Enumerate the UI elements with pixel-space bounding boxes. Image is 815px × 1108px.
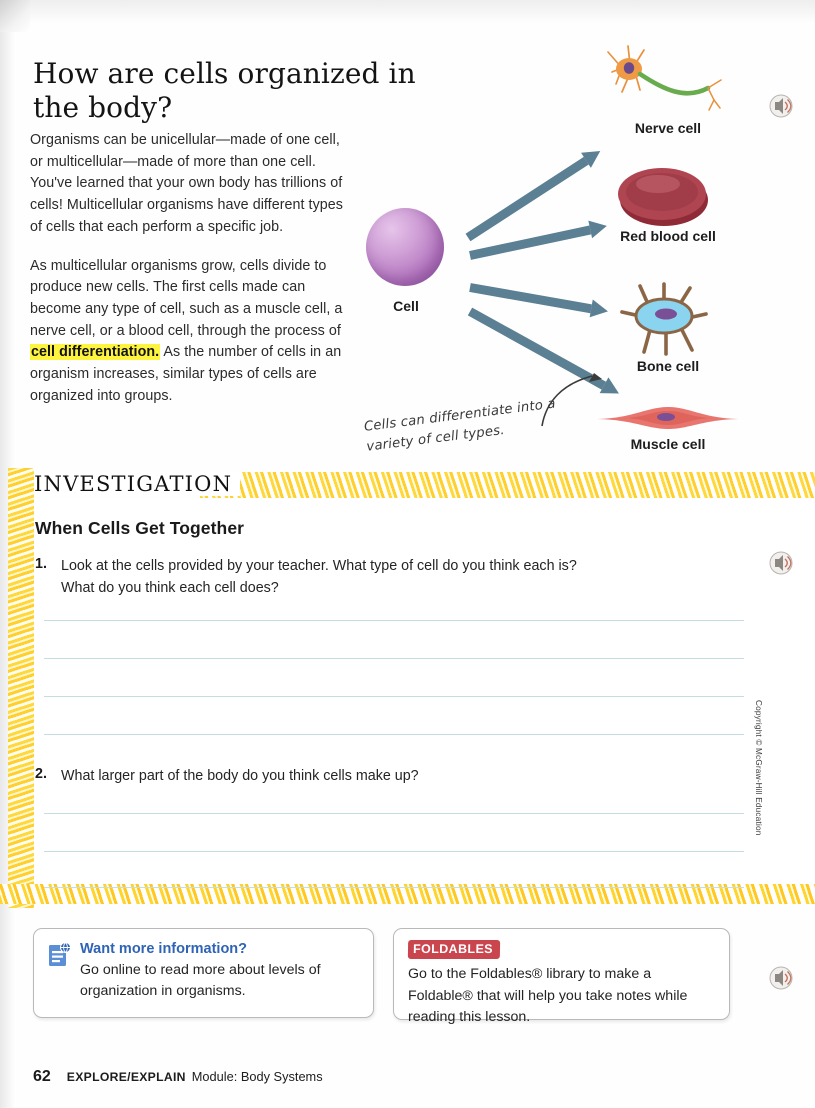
- scan-corner-artifact: [0, 0, 30, 32]
- nerve-cell-label: Nerve cell: [588, 120, 748, 136]
- investigation-subtitle: When Cells Get Together: [35, 518, 244, 539]
- paragraph-1: Organisms can be unicellular—made of one…: [30, 130, 350, 239]
- audio-icon[interactable]: [768, 93, 794, 119]
- copyright-notice: Copyright © McGraw-Hill Education: [754, 700, 763, 836]
- question-2-number: 2.: [35, 766, 61, 788]
- bone-cell-icon: [588, 282, 748, 368]
- investigation-hatch-left: [8, 468, 34, 908]
- question-1: 1. Look at the cells provided by your te…: [35, 556, 595, 599]
- page-footer: 62 EXPLORE/EXPLAIN Module: Body Systems: [33, 1068, 323, 1086]
- want-more-heading: Want more information?: [80, 941, 247, 957]
- vocab-term-highlight: cell differentiation.: [30, 344, 160, 360]
- want-more-body: Go online to read more about levels of o…: [80, 960, 340, 1003]
- question-2: 2. What larger part of the body do you t…: [35, 766, 595, 788]
- red-blood-cell-icon: [588, 160, 748, 232]
- document-globe-icon: [48, 942, 72, 968]
- bone-cell-label: Bone cell: [588, 358, 748, 374]
- red-blood-cell-figure: Red blood cell: [588, 160, 748, 264]
- nerve-cell-icon: [588, 38, 748, 126]
- answer-line[interactable]: [44, 851, 744, 852]
- lesson-body-text: Organisms can be unicellular—made of one…: [30, 130, 350, 425]
- muscle-cell-icon: [588, 398, 748, 438]
- investigation-banner-label: INVESTIGATION: [34, 472, 240, 496]
- foldables-body: Go to the Foldables® library to make a F…: [408, 964, 688, 1029]
- footer-module-label: Module: Body Systems: [192, 1069, 323, 1084]
- diagram-caption: Cells can differentiate into a variety o…: [363, 390, 596, 459]
- muscle-cell-label: Muscle cell: [588, 436, 748, 452]
- scan-top-edge-artifact: [14, 0, 815, 22]
- answer-line[interactable]: [44, 696, 744, 697]
- answer-line[interactable]: [44, 620, 744, 621]
- answer-line[interactable]: [44, 734, 744, 735]
- foldables-callout[interactable]: FOLDABLES Go to the Foldables® library t…: [393, 928, 730, 1020]
- want-more-information-callout[interactable]: Want more information? Go online to read…: [33, 928, 374, 1018]
- answer-line[interactable]: [44, 658, 744, 659]
- question-2-text: What larger part of the body do you thin…: [61, 766, 419, 788]
- question-1-text: Look at the cells provided by your teach…: [61, 556, 595, 599]
- paragraph-2: As multicellular organisms grow, cells d…: [30, 256, 350, 408]
- bone-cell-figure: Bone cell: [588, 282, 748, 390]
- footer-section-label: EXPLORE/EXPLAIN: [67, 1070, 186, 1084]
- audio-icon[interactable]: [768, 965, 794, 991]
- muscle-cell-figure: Muscle cell: [588, 398, 748, 478]
- question-1-number: 1.: [35, 556, 61, 599]
- answer-line[interactable]: [44, 887, 744, 888]
- textbook-page: How are cells organized in the body? Org…: [0, 0, 815, 1108]
- stem-cell-label: Cell: [366, 298, 446, 314]
- investigation-section: INVESTIGATION When Cells Get Together 1.…: [0, 468, 815, 908]
- foldables-badge: FOLDABLES: [408, 940, 500, 959]
- answer-line[interactable]: [44, 813, 744, 814]
- audio-icon[interactable]: [768, 550, 794, 576]
- paragraph-2-before: As multicellular organisms grow, cells d…: [30, 258, 342, 339]
- cell-differentiation-diagram: Cell Cells can differentiate into a vari…: [350, 30, 800, 470]
- red-blood-cell-label: Red blood cell: [588, 228, 748, 244]
- stem-cell-illustration: [366, 208, 444, 286]
- investigation-hatch-top: [200, 472, 815, 498]
- page-number: 62: [33, 1068, 51, 1086]
- nerve-cell-figure: Nerve cell: [588, 38, 748, 150]
